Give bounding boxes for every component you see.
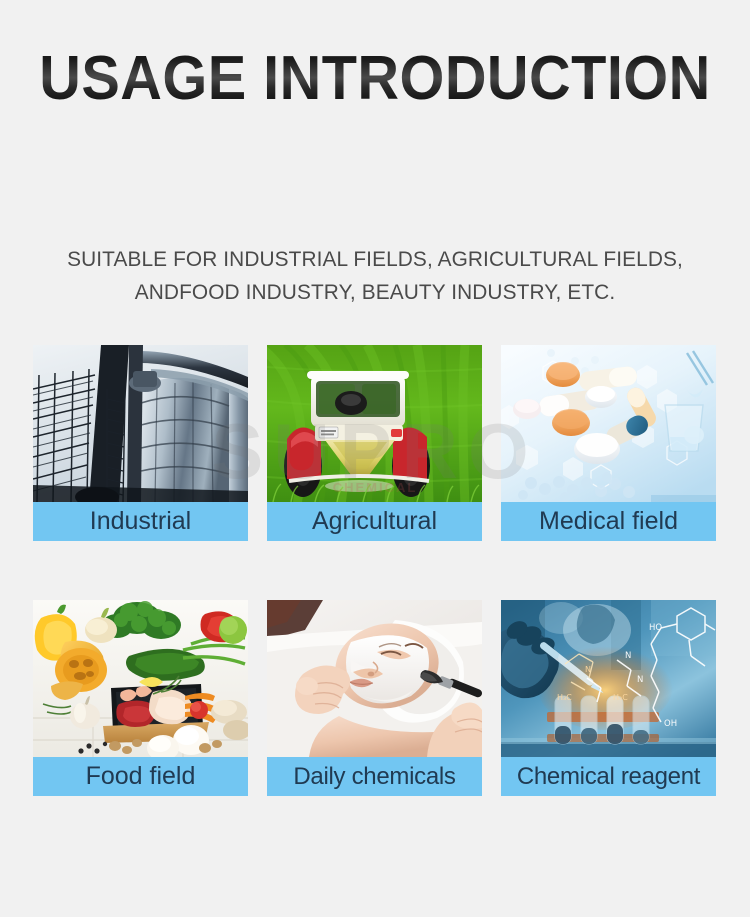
card-caption-medical-field: Medical field: [501, 502, 716, 541]
card-caption-industrial: Industrial: [33, 502, 248, 541]
food-produce-photo: [33, 600, 248, 757]
subtitle-line-2: ANDFOOD INDUSTRY, BEAUTY INDUSTRY, ETC.: [11, 276, 739, 309]
facial-treatment-photo: [267, 600, 482, 757]
usage-card-industrial[interactable]: Industrial: [33, 345, 248, 542]
page-title: USAGE INTRODUCTION: [26, 44, 724, 114]
svg-text:H₃C: H₃C: [557, 693, 572, 702]
svg-text:N: N: [625, 651, 631, 661]
usage-card-medical-field[interactable]: Medical field: [501, 345, 716, 542]
subtitle-line-1: SUITABLE FOR INDUSTRIAL FIELDS, AGRICULT…: [11, 243, 739, 276]
usage-card-grid: Industrial: [33, 345, 717, 797]
industrial-plant-photo: [33, 345, 248, 502]
svg-text:HO: HO: [649, 623, 662, 633]
usage-card-food-field[interactable]: Food field: [33, 600, 248, 797]
usage-card-agricultural[interactable]: Agricultural: [267, 345, 482, 542]
medical-pills-photo: [501, 345, 716, 502]
card-caption-chemical-reagent: Chemical reagent: [501, 757, 716, 796]
usage-card-daily-chemicals[interactable]: Daily chemicals: [267, 600, 482, 797]
svg-text:N: N: [637, 675, 643, 685]
svg-text:OH: OH: [664, 719, 677, 729]
laboratory-reagent-photo: HO OH N N H₃C H₃C N: [501, 600, 716, 757]
usage-card-chemical-reagent[interactable]: HO OH N N H₃C H₃C N Chemical reagent: [501, 600, 716, 797]
card-caption-daily-chemicals: Daily chemicals: [267, 757, 482, 796]
agricultural-tractor-photo: [267, 345, 482, 502]
svg-text:H₃C: H₃C: [613, 693, 628, 702]
card-caption-food-field: Food field: [33, 757, 248, 796]
svg-text:N: N: [585, 665, 591, 674]
subtitle: SUITABLE FOR INDUSTRIAL FIELDS, AGRICULT…: [11, 243, 739, 309]
card-caption-agricultural: Agricultural: [267, 502, 482, 541]
